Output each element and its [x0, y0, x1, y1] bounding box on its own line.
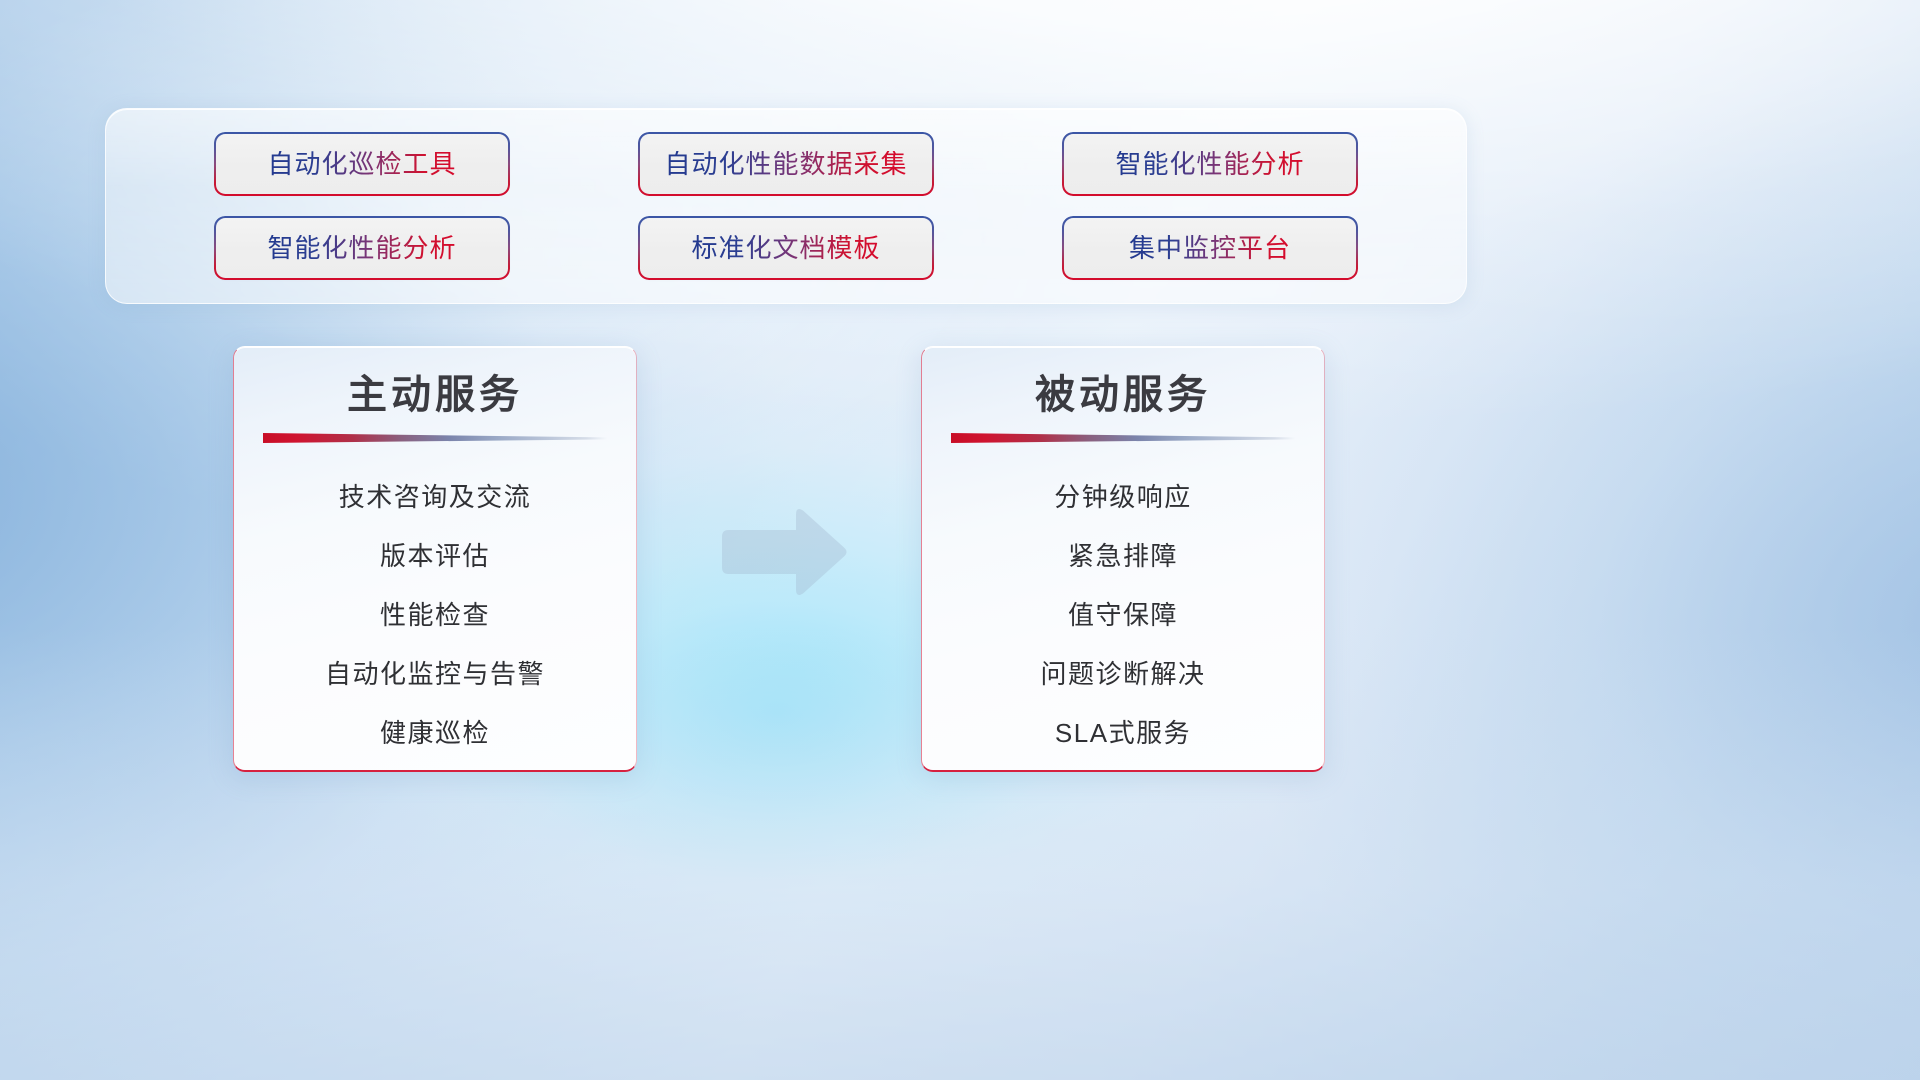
service-card-item: 分钟级响应: [1054, 467, 1192, 526]
capability-pill-label: 集中监控平台: [1129, 235, 1291, 261]
service-card-item-list: 分钟级响应 紧急排障 值守保障 问题诊断解决 SLA式服务: [922, 467, 1324, 762]
service-card-item: 问题诊断解决: [1040, 644, 1205, 703]
capability-pill-grid: 自动化巡检工具 自动化性能数据采集 智能化性能分析 智能化性能分析 标准化文档模…: [106, 109, 1466, 303]
service-card-item: 自动化监控与告警: [325, 644, 545, 703]
capability-pill-automated-inspection-tool[interactable]: 自动化巡检工具: [216, 134, 508, 194]
capability-pill-standardized-document-template[interactable]: 标准化文档模板: [640, 218, 932, 278]
slide-canvas: 自动化巡检工具 自动化性能数据采集 智能化性能分析 智能化性能分析 标准化文档模…: [0, 0, 1920, 1080]
service-card-item: 版本评估: [380, 526, 490, 585]
service-card-title: 被动服务: [1035, 371, 1211, 419]
service-card-reactive[interactable]: 被动服务 分钟级响应 紧急排障 值守保障 问题诊断解决 SLA式服务: [921, 346, 1325, 772]
service-card-title: 主动服务: [347, 371, 523, 419]
service-card-item-list: 技术咨询及交流 版本评估 性能检查 自动化监控与告警 健康巡检: [234, 467, 636, 762]
capability-pill-label: 智能化性能分析: [1115, 151, 1304, 177]
service-card-item: SLA式服务: [1055, 703, 1191, 762]
service-card-item: 性能检查: [380, 585, 490, 644]
capability-pill-automated-performance-data-collection[interactable]: 自动化性能数据采集: [640, 134, 932, 194]
capability-panel: 自动化巡检工具 自动化性能数据采集 智能化性能分析 智能化性能分析 标准化文档模…: [105, 108, 1467, 304]
service-card-item: 技术咨询及交流: [339, 467, 532, 526]
capability-pill-label: 自动化巡检工具: [267, 151, 456, 177]
service-card-item: 健康巡检: [380, 703, 490, 762]
capability-pill-label: 标准化文档模板: [691, 235, 880, 261]
capability-pill-centralized-monitoring-platform[interactable]: 集中监控平台: [1064, 218, 1356, 278]
service-card-item: 紧急排障: [1068, 526, 1178, 585]
capability-pill-label: 自动化性能数据采集: [664, 151, 907, 177]
arrow-right-icon: [716, 504, 849, 600]
service-card-divider: [263, 433, 607, 443]
capability-pill-label: 智能化性能分析: [267, 235, 456, 261]
service-card-divider: [951, 433, 1295, 443]
capability-pill-intelligent-performance-analysis-2[interactable]: 智能化性能分析: [216, 218, 508, 278]
service-card-proactive[interactable]: 主动服务 技术咨询及交流 版本评估 性能检查 自动化监控与告警 健康巡检: [233, 346, 637, 772]
service-card-item: 值守保障: [1068, 585, 1178, 644]
capability-pill-intelligent-performance-analysis-1[interactable]: 智能化性能分析: [1064, 134, 1356, 194]
